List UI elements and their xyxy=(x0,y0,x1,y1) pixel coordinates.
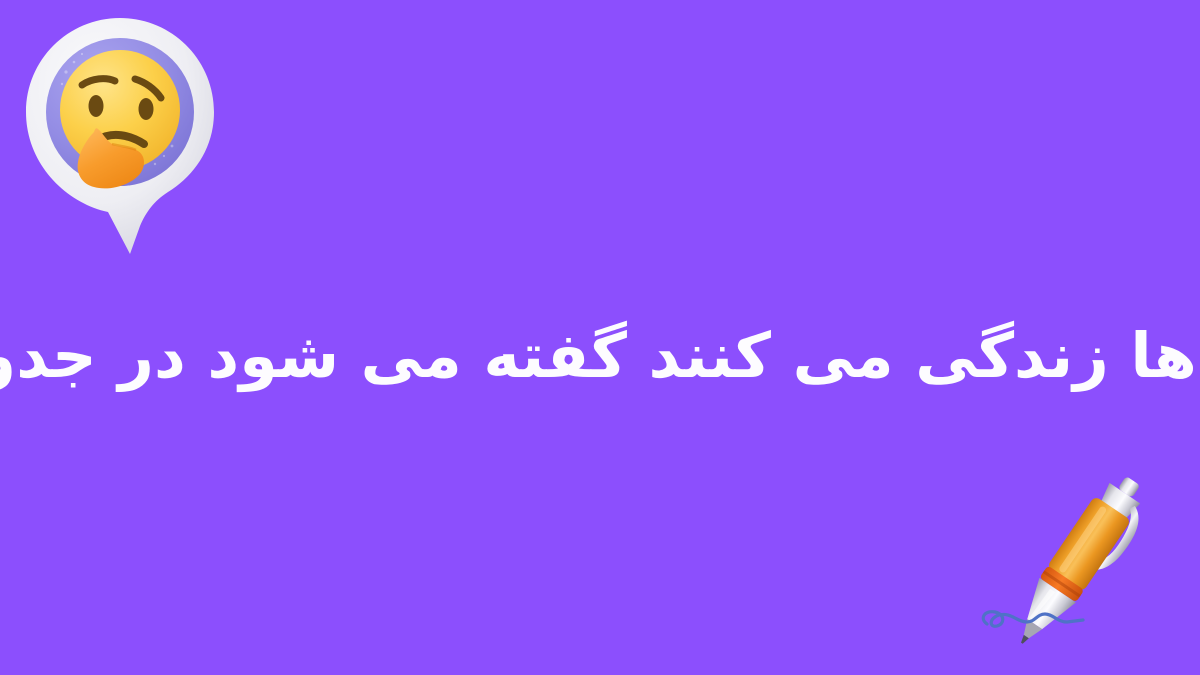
pen-emoji xyxy=(975,462,1185,652)
headline-container: اه ها زندگی می کنند گفته می شود در جدول xyxy=(0,296,1200,416)
emoji-eye-right xyxy=(139,98,154,120)
headline-text: اه ها زندگی می کنند گفته می شود در جدول xyxy=(0,323,1200,390)
poster-canvas: اه ها زندگی می کنند گفته می شود در جدول xyxy=(0,0,1200,675)
thinking-face-speech-bubble xyxy=(22,14,218,258)
emoji-eye-left xyxy=(89,95,104,117)
